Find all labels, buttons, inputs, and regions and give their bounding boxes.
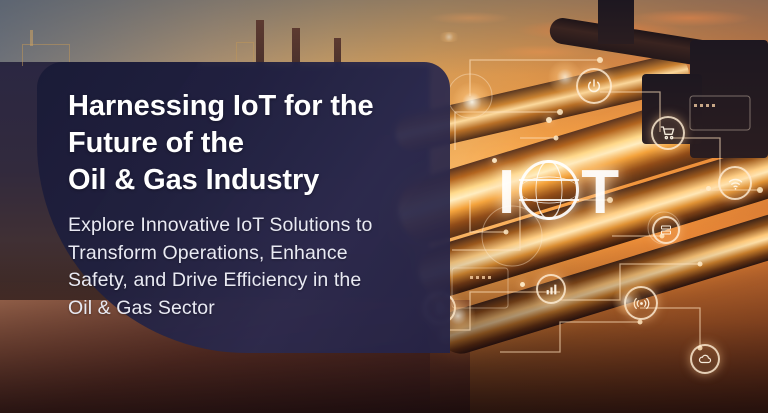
iot-oil-gas-banner: IT <box>0 0 768 413</box>
network-node <box>546 117 552 123</box>
title-line: Future of the <box>68 125 420 162</box>
page-subtitle: Explore Innovative IoT Solutions to Tran… <box>68 212 420 322</box>
network-node <box>706 186 711 191</box>
lens-flare <box>612 286 642 316</box>
subtitle-line: Safety, and Drive Efficiency in the <box>68 267 420 294</box>
title-line: Oil & Gas Industry <box>68 162 420 199</box>
page-title: Harnessing IoT for the Future of the Oil… <box>68 88 420 198</box>
network-node <box>492 158 497 163</box>
title-line: Harnessing IoT for the <box>68 88 420 125</box>
bar-chart-icon <box>536 274 566 304</box>
subtitle-line: Explore Innovative IoT Solutions to <box>68 212 420 239</box>
iot-wordmark: IT <box>498 160 621 224</box>
network-node <box>520 282 525 287</box>
subtitle-line: Oil & Gas Sector <box>68 295 420 322</box>
lens-flare <box>452 82 492 122</box>
cloud-icon <box>690 344 720 374</box>
subtitle-line: Transform Operations, Enhance <box>68 240 420 267</box>
shopping-cart-icon <box>651 116 685 150</box>
iot-letter-i: I <box>498 158 517 227</box>
lens-flare <box>548 60 582 94</box>
server-icon <box>652 216 680 244</box>
wifi-icon <box>718 166 752 200</box>
headline-card: Harnessing IoT for the Future of the Oil… <box>37 62 450 353</box>
iot-letter-t: T <box>581 158 621 227</box>
globe-icon <box>519 160 579 220</box>
